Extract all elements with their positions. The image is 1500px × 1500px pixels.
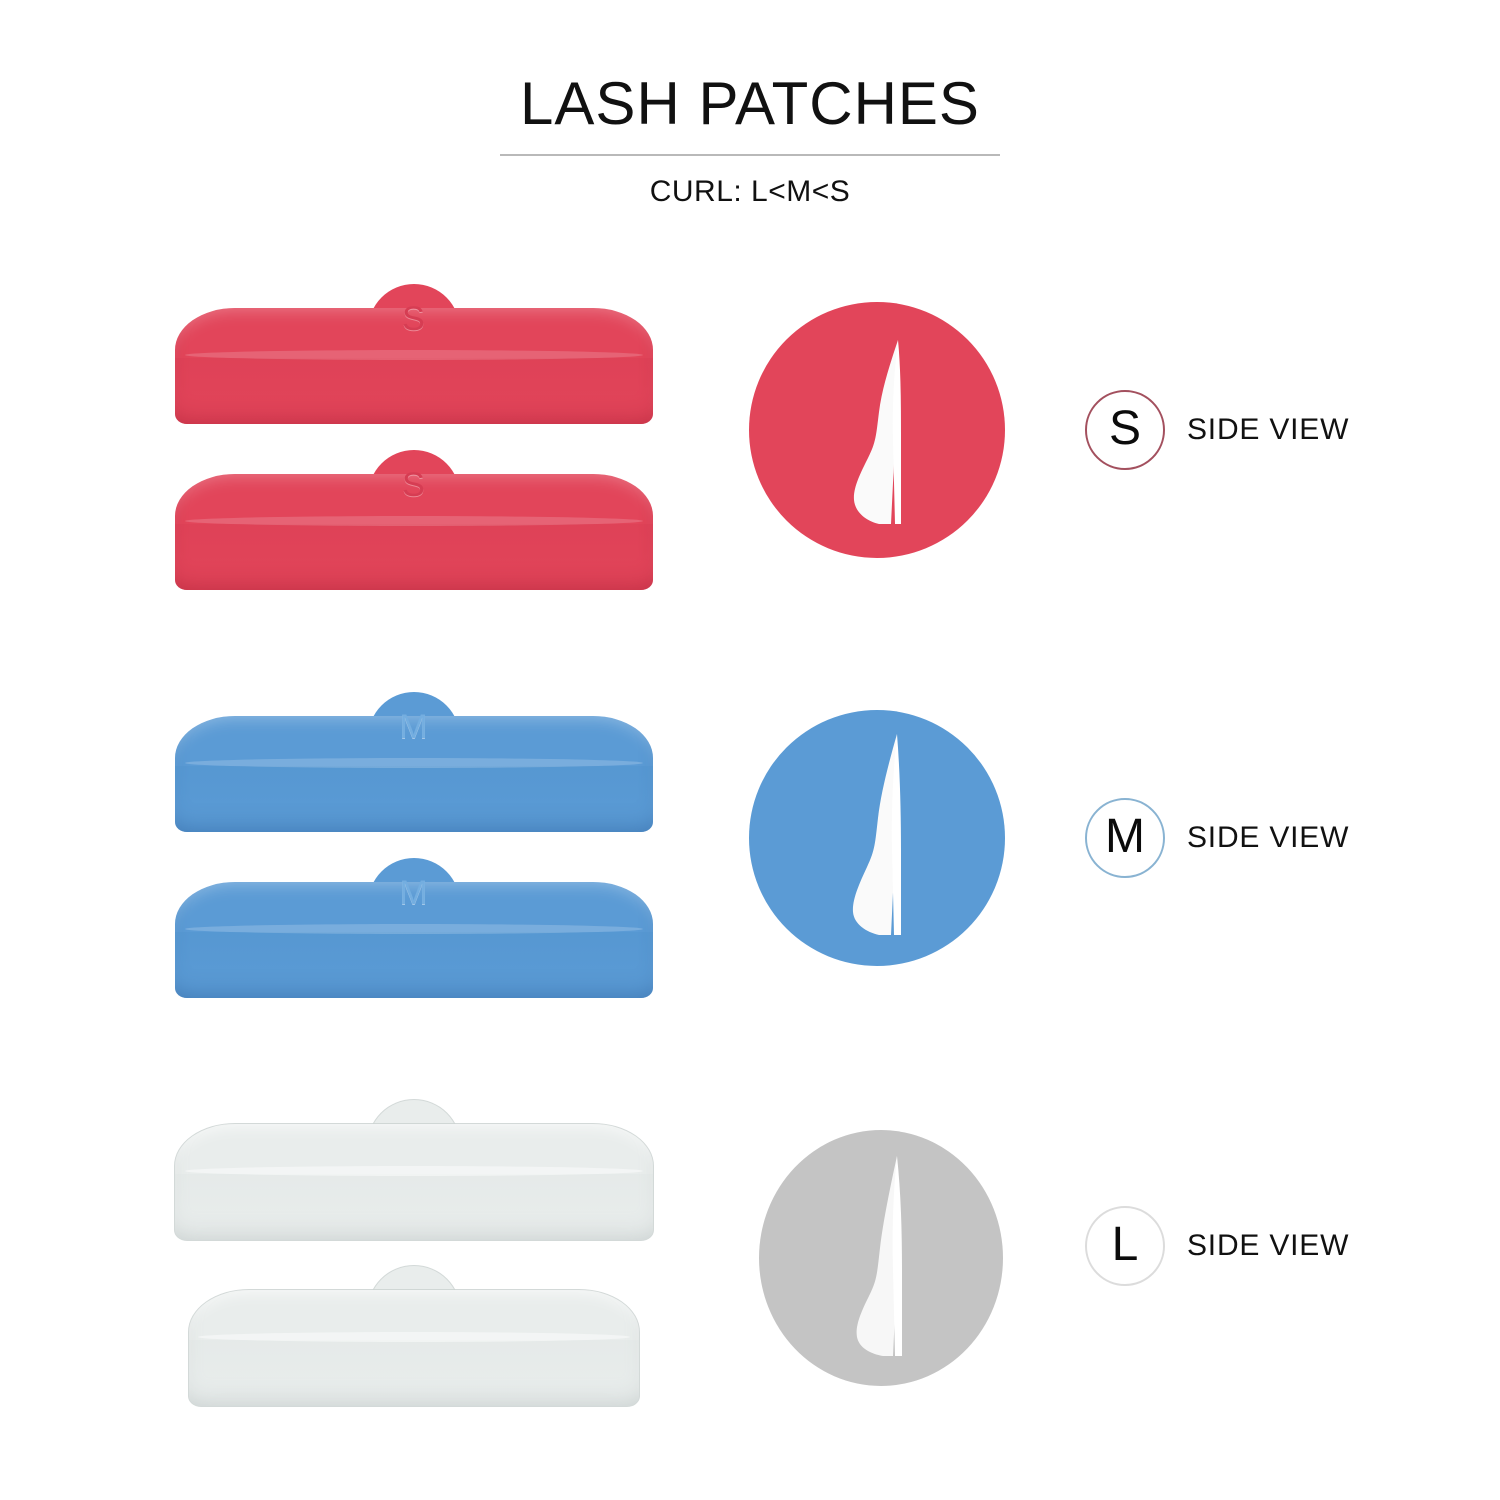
- lash-curl-profile-icon: [749, 302, 1005, 558]
- lash-patch: [189, 1266, 639, 1406]
- patch-group-s: S S: [175, 272, 670, 680]
- patch-group-l: [175, 1088, 670, 1496]
- patch-groove: [185, 924, 644, 934]
- patch-lower-shade: [175, 1174, 653, 1240]
- patch-lower-shade: [175, 524, 653, 590]
- variant-row-m: M M M: [0, 680, 1500, 1088]
- lash-patch: M: [175, 858, 653, 998]
- side-view-disc-s: [735, 272, 1025, 680]
- lash-curl-profile-icon: [749, 710, 1005, 966]
- size-badge-letter: L: [1112, 1221, 1139, 1269]
- patch-embossed-letter: S: [402, 466, 426, 505]
- patch-lower-shade: [175, 932, 653, 998]
- side-view-disc: [749, 302, 1005, 558]
- side-view-disc: [749, 710, 1005, 966]
- patch-lower-shade: [175, 766, 653, 832]
- patch-groove: [185, 758, 644, 768]
- size-badge-letter: S: [1109, 405, 1141, 453]
- side-view-disc: [759, 1130, 1003, 1386]
- patch-body: [189, 1290, 639, 1406]
- patch-embossed-letter: S: [402, 300, 426, 339]
- patch-groove: [185, 516, 644, 526]
- legend-s: S SIDE VIEW: [1085, 272, 1425, 680]
- size-badge-l: L: [1085, 1206, 1165, 1286]
- patch-embossed-letter: M: [399, 708, 428, 747]
- legend-item: M SIDE VIEW: [1085, 798, 1349, 878]
- patch-embossed-letter: M: [399, 874, 428, 913]
- page-header: LASH PATCHES CURL: L<M<S: [0, 0, 1500, 209]
- legend-label: SIDE VIEW: [1187, 413, 1349, 447]
- size-badge-m: M: [1085, 798, 1165, 878]
- lash-patch: M: [175, 692, 653, 832]
- legend-item: L SIDE VIEW: [1085, 1206, 1349, 1286]
- patch-lower-shade: [175, 358, 653, 424]
- side-view-disc-m: [735, 680, 1025, 1088]
- patch-groove: [198, 1332, 630, 1342]
- lash-curl-profile-icon: [759, 1130, 1003, 1386]
- side-view-disc-l: [735, 1088, 1025, 1496]
- patch-body: [175, 1124, 653, 1240]
- page-subtitle: CURL: L<M<S: [0, 156, 1500, 209]
- lash-patch: S: [175, 450, 653, 590]
- patch-groove: [185, 350, 644, 360]
- legend-label: SIDE VIEW: [1187, 1229, 1349, 1263]
- patch-lower-shade: [189, 1340, 639, 1406]
- legend-item: S SIDE VIEW: [1085, 390, 1349, 470]
- lash-patch: S: [175, 284, 653, 424]
- legend-m: M SIDE VIEW: [1085, 680, 1425, 1088]
- patch-group-m: M M: [175, 680, 670, 1088]
- page-title: LASH PATCHES: [0, 0, 1500, 135]
- variant-row-l: L SIDE VIEW: [0, 1088, 1500, 1496]
- legend-l: L SIDE VIEW: [1085, 1088, 1425, 1496]
- lash-patch: [175, 1100, 653, 1240]
- variant-row-s: S S S: [0, 272, 1500, 680]
- legend-label: SIDE VIEW: [1187, 821, 1349, 855]
- size-badge-s: S: [1085, 390, 1165, 470]
- size-badge-letter: M: [1105, 813, 1145, 861]
- patch-groove: [185, 1166, 644, 1176]
- variant-rows: S S S: [0, 272, 1500, 1496]
